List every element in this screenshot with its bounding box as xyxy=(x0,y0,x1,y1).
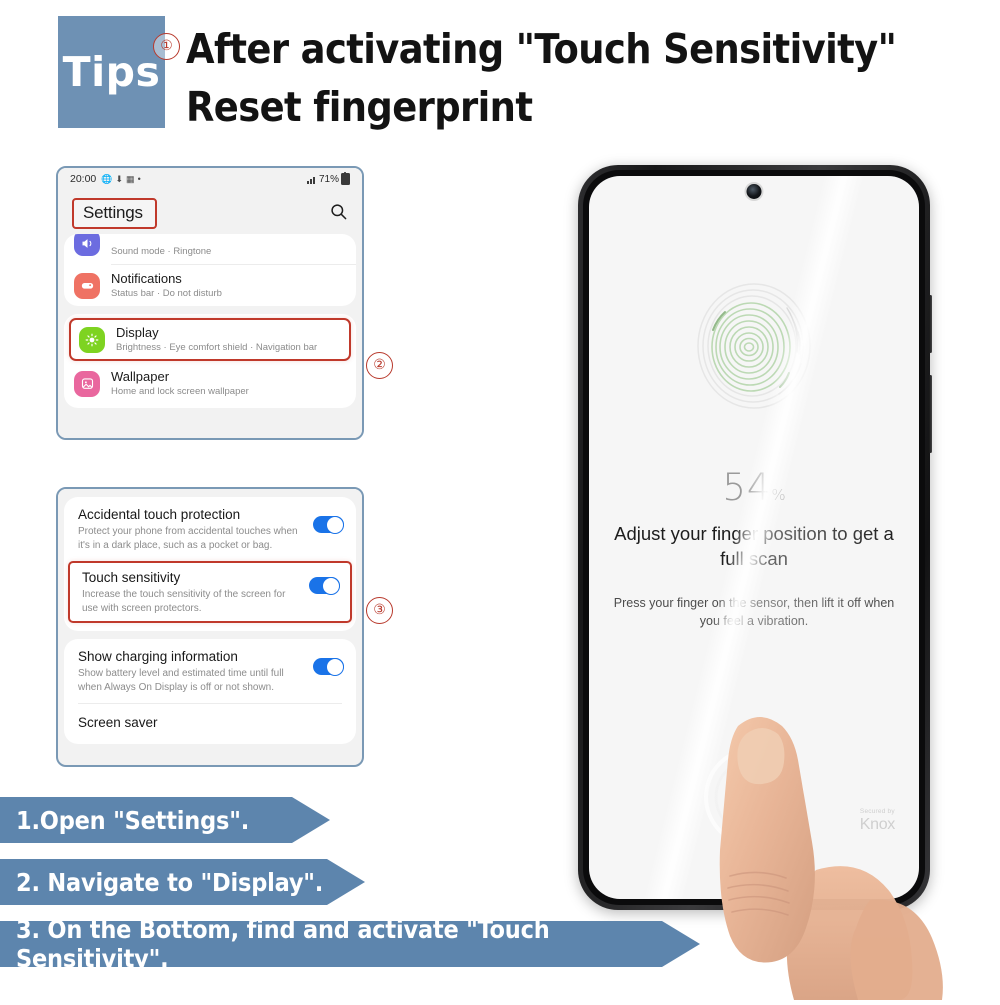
phone-mockup: 54% Adjust your finger position to get a… xyxy=(578,165,930,910)
settings-row-display-subtitle: Brightness · Eye comfort shield · Naviga… xyxy=(116,341,341,354)
settings-screenshot-panel: 20:00 🌐 ⬇ ▦ • 71% Settings xyxy=(56,166,364,440)
touch-row-screensaver-title: Screen saver xyxy=(78,714,336,732)
settings-row-sound-text: Sound mode · Ringtone xyxy=(111,245,346,258)
fingerprint-icon xyxy=(679,268,829,428)
toggle-accidental-touch-protection[interactable] xyxy=(313,516,344,533)
settings-card-display-wallpaper: Display Brightness · Eye comfort shield … xyxy=(64,314,356,408)
battery-icon xyxy=(341,173,350,185)
settings-row-display-title: Display xyxy=(116,325,341,341)
settings-row-sound-subtitle: Sound mode · Ringtone xyxy=(111,245,346,258)
toggle-knob xyxy=(326,658,344,676)
settings-row-wallpaper-title: Wallpaper xyxy=(111,369,346,385)
touch-row-touch-sensitivity-highlight[interactable]: Touch sensitivity Increase the touch sen… xyxy=(68,561,352,623)
settings-title: Settings xyxy=(83,203,143,222)
settings-row-notifications-title: Notifications xyxy=(111,271,346,287)
touch-row-screen-saver[interactable]: Screen saver xyxy=(64,704,356,744)
power-button[interactable] xyxy=(929,375,932,453)
card-gap xyxy=(58,306,362,314)
search-icon[interactable] xyxy=(329,202,348,221)
tips-badge: Tips xyxy=(58,16,165,128)
scan-subtext: Press your finger on the sensor, then li… xyxy=(609,594,899,630)
touch-row-charging-text: Show charging information Show battery l… xyxy=(78,648,313,694)
touch-row-screensaver-text: Screen saver xyxy=(78,714,344,732)
step-banner-1: 1.Open "Settings". xyxy=(0,797,330,843)
card-gap xyxy=(58,631,362,639)
download-icon: ⬇ xyxy=(116,175,124,184)
settings-title-highlight: Settings xyxy=(72,198,157,229)
dot-icon: • xyxy=(138,175,141,184)
battery-percent-label: 71% xyxy=(319,174,339,185)
status-bar-right: 71% xyxy=(307,173,350,185)
knox-logo: Secured by Knox xyxy=(860,808,895,833)
touch-row-accidental-text: Accidental touch protection Protect your… xyxy=(78,506,313,552)
notifications-icon xyxy=(74,273,100,299)
settings-row-wallpaper-subtitle: Home and lock screen wallpaper xyxy=(111,385,346,398)
settings-row-wallpaper[interactable]: Wallpaper Home and lock screen wallpaper xyxy=(64,361,356,404)
settings-row-notifications-subtitle: Status bar · Do not disturb xyxy=(111,287,346,300)
callout-number-3: ③ xyxy=(366,597,393,624)
phone-screen: 54% Adjust your finger position to get a… xyxy=(589,176,919,899)
scan-heading: Adjust your finger position to get a ful… xyxy=(605,521,903,571)
step-banner-3: 3. On the Bottom, find and activate "Tou… xyxy=(0,921,700,967)
status-bar-time: 20:00 xyxy=(70,173,96,185)
touch-row-charging-title: Show charging information xyxy=(78,648,305,666)
settings-row-display[interactable]: Display Brightness · Eye comfort shield … xyxy=(71,320,349,359)
touch-row-accidental-subtitle: Protect your phone from accidental touch… xyxy=(78,525,305,552)
settings-row-wallpaper-text: Wallpaper Home and lock screen wallpaper xyxy=(111,369,346,398)
page-title: After activating "Touch Sensitivity" Res… xyxy=(186,20,986,136)
scan-progress-number: 54 xyxy=(722,466,771,509)
scan-progress-percent: 54% xyxy=(589,466,919,509)
toggle-knob xyxy=(326,516,344,534)
settings-row-notifications[interactable]: Notifications Status bar · Do not distur… xyxy=(64,265,356,306)
globe-icon: 🌐 xyxy=(101,175,112,184)
settings-list: Sound mode · Ringtone Notifications Stat… xyxy=(58,234,362,438)
touch-row-sensitivity-subtitle: Increase the touch sensitivity of the sc… xyxy=(82,588,301,615)
knox-wordmark: Knox xyxy=(860,816,895,833)
page-title-line-2: Reset fingerprint xyxy=(186,78,986,136)
knox-secured-by-label: Secured by xyxy=(860,808,895,816)
sound-icon xyxy=(74,234,100,256)
qr-icon: ▦ xyxy=(126,175,135,184)
tips-header: Tips After activating "Touch Sensitivity… xyxy=(0,0,1000,150)
settings-row-sound-mode[interactable]: Sound mode · Ringtone xyxy=(64,234,356,264)
touch-card-bottom: Show charging information Show battery l… xyxy=(64,639,356,744)
display-icon xyxy=(79,327,105,353)
touch-row-show-charging-information[interactable]: Show charging information Show battery l… xyxy=(64,639,356,703)
step-banner-2: 2. Navigate to "Display". xyxy=(0,859,365,905)
settings-card-sounds-notifications: Sound mode · Ringtone Notifications Stat… xyxy=(64,234,356,306)
settings-row-display-highlight[interactable]: Display Brightness · Eye comfort shield … xyxy=(69,318,351,361)
wallpaper-icon xyxy=(74,371,100,397)
page-title-line-1: After activating "Touch Sensitivity" xyxy=(186,20,986,78)
scan-progress-symbol: % xyxy=(771,486,785,504)
settings-row-display-text: Display Brightness · Eye comfort shield … xyxy=(116,325,341,354)
status-bar: 20:00 🌐 ⬇ ▦ • 71% xyxy=(58,168,362,190)
callout-number-1: ① xyxy=(153,33,180,60)
settings-row-notifications-text: Notifications Status bar · Do not distur… xyxy=(111,271,346,300)
front-camera-icon xyxy=(745,182,764,201)
toggle-show-charging-information[interactable] xyxy=(313,658,344,675)
tips-badge-label: Tips xyxy=(63,48,161,96)
touch-row-sensitivity-title: Touch sensitivity xyxy=(82,569,301,587)
touch-row-touch-sensitivity[interactable]: Touch sensitivity Increase the touch sen… xyxy=(70,563,350,621)
toggle-touch-sensitivity[interactable] xyxy=(309,577,340,594)
signal-icon xyxy=(307,175,317,184)
fingerprint-sensor-halo-icon[interactable] xyxy=(703,746,805,848)
card-inner-spacer xyxy=(64,623,356,631)
panel-top-spacer xyxy=(58,489,362,497)
volume-button[interactable] xyxy=(929,295,932,353)
settings-app-bar: Settings xyxy=(58,190,362,234)
touch-row-charging-subtitle: Show battery level and estimated time un… xyxy=(78,667,305,694)
touch-row-sensitivity-text: Touch sensitivity Increase the touch sen… xyxy=(82,569,309,615)
touch-settings-screenshot-panel: Accidental touch protection Protect your… xyxy=(56,487,364,767)
touch-row-accidental-touch-protection[interactable]: Accidental touch protection Protect your… xyxy=(64,497,356,561)
touch-row-accidental-title: Accidental touch protection xyxy=(78,506,305,524)
toggle-knob xyxy=(322,577,340,595)
touch-card-top: Accidental touch protection Protect your… xyxy=(64,497,356,631)
callout-number-2: ② xyxy=(366,352,393,379)
